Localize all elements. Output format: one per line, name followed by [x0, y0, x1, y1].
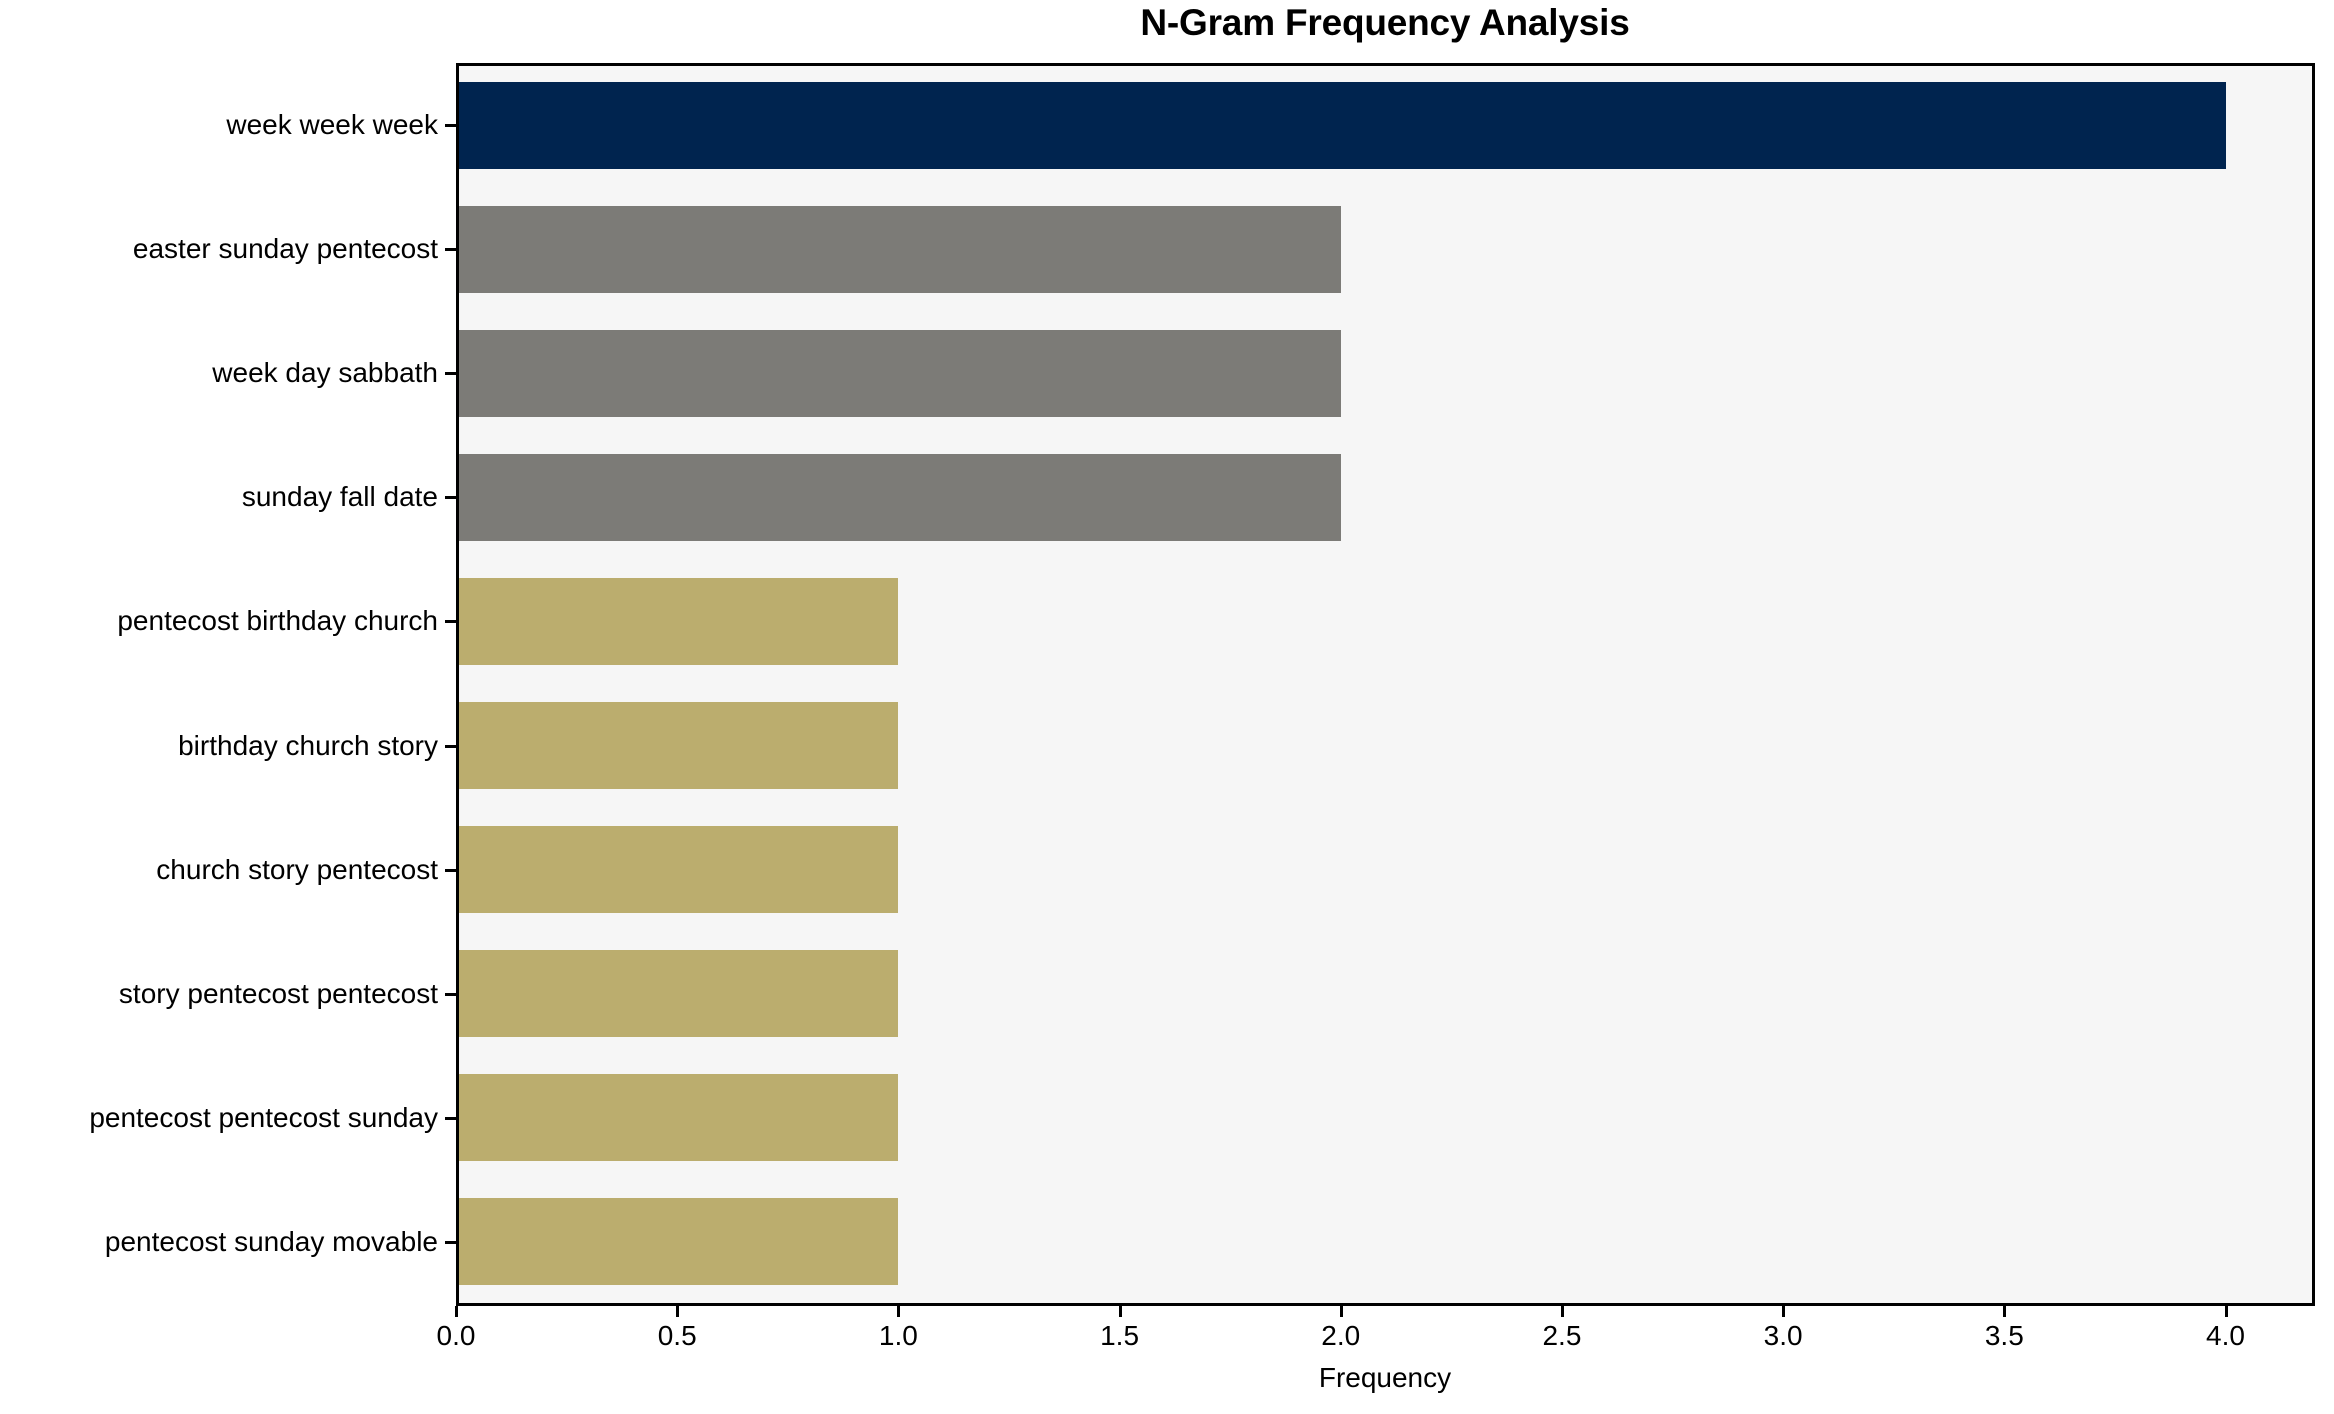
x-axis-tick-mark — [1561, 1306, 1564, 1317]
bar — [456, 578, 898, 665]
y-axis-tick-mark — [445, 869, 456, 872]
x-axis-tick-label: 1.0 — [879, 1322, 918, 1350]
y-axis-tick-label: week day sabbath — [212, 359, 438, 387]
axis-spine-top — [456, 63, 2315, 66]
x-axis-tick-mark — [455, 1306, 458, 1317]
y-axis-tick-mark — [445, 745, 456, 748]
x-axis-tick-label: 2.0 — [1321, 1322, 1360, 1350]
bar — [456, 1198, 898, 1285]
axis-spine-right — [2312, 63, 2315, 1306]
page-title: N-Gram Frequency Analysis — [456, 2, 2314, 44]
x-axis-tick-mark — [897, 1306, 900, 1317]
x-axis-tick-mark — [1340, 1306, 1343, 1317]
x-axis-tick-label: 0.0 — [437, 1322, 476, 1350]
x-axis-tick-mark — [676, 1306, 679, 1317]
y-axis-tick-mark — [445, 248, 456, 251]
x-axis-tick-label: 2.5 — [1542, 1322, 1581, 1350]
bar — [456, 330, 1341, 417]
bar — [456, 206, 1341, 293]
y-axis-tick-mark — [445, 1241, 456, 1244]
bar — [456, 454, 1341, 541]
y-axis-tick-mark — [445, 372, 456, 375]
x-axis-tick-mark — [1782, 1306, 1785, 1317]
y-axis-tick-label: sunday fall date — [242, 483, 438, 511]
y-axis-tick-mark — [445, 496, 456, 499]
axis-spine-bottom — [456, 1303, 2315, 1306]
x-axis-tick-label: 3.5 — [1985, 1322, 2024, 1350]
x-axis-tick-mark — [1119, 1306, 1122, 1317]
y-axis-tick-label: birthday church story — [178, 732, 438, 760]
bar — [456, 950, 898, 1037]
x-axis-tick-label: 0.5 — [658, 1322, 697, 1350]
y-axis-tick-label: pentecost sunday movable — [105, 1228, 438, 1256]
y-axis-tick-label: pentecost birthday church — [117, 607, 438, 635]
y-axis-tick-mark — [445, 124, 456, 127]
x-axis-tick-mark — [2225, 1306, 2228, 1317]
y-axis-tick-mark — [445, 993, 456, 996]
x-axis-tick-label: 4.0 — [2206, 1322, 2245, 1350]
y-axis-tick-label: week week week — [226, 111, 438, 139]
y-axis-tick-mark — [445, 620, 456, 623]
plot-area — [456, 63, 2314, 1304]
y-axis-tick-label: pentecost pentecost sunday — [89, 1104, 438, 1132]
axis-spine-left — [456, 63, 459, 1306]
y-axis-tick-label: story pentecost pentecost — [119, 980, 438, 1008]
bar — [456, 702, 898, 789]
y-axis-tick-label: church story pentecost — [156, 856, 438, 884]
chart-figure: N-Gram Frequency Analysis week week week… — [0, 0, 2334, 1414]
bar — [456, 1074, 898, 1161]
y-axis-tick-label: easter sunday pentecost — [133, 235, 438, 263]
x-axis-label: Frequency — [456, 1362, 2314, 1394]
bar — [456, 82, 2226, 169]
x-axis-tick-label: 1.5 — [1100, 1322, 1139, 1350]
x-axis-tick-mark — [2003, 1306, 2006, 1317]
y-axis-tick-mark — [445, 1117, 456, 1120]
bar — [456, 826, 898, 913]
x-axis-tick-label: 3.0 — [1764, 1322, 1803, 1350]
